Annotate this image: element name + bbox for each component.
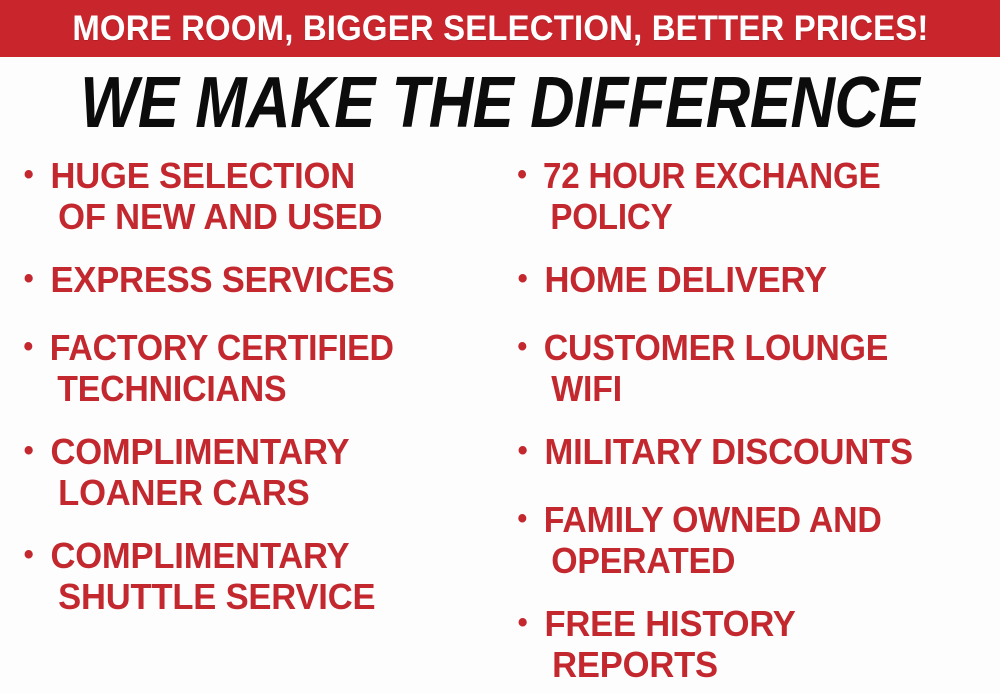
list-item-line-1: FACTORY CERTIFIED <box>14 327 471 368</box>
list-item-line-2: REPORTS <box>508 644 980 685</box>
list-item-line-1: FREE HISTORY <box>508 603 980 644</box>
list-item: EXPRESS SERVICES <box>14 259 500 300</box>
benefits-column-left: HUGE SELECTION OF NEW AND USED EXPRESS S… <box>14 155 500 690</box>
promo-poster: MORE ROOM, BIGGER SELECTION, BETTER PRIC… <box>0 0 1000 694</box>
list-item-line-1: HOME DELIVERY <box>508 259 980 300</box>
list-item-line-2: POLICY <box>508 196 961 237</box>
list-item: MILITARY DISCOUNTS <box>508 431 1000 472</box>
headline-container: WE MAKE THE DIFFERENCE <box>0 66 1000 138</box>
list-item-line-1: MILITARY DISCOUNTS <box>508 431 980 472</box>
list-item: FACTORY CERTIFIED TECHNICIANS <box>14 327 500 409</box>
headline-banner: MORE ROOM, BIGGER SELECTION, BETTER PRIC… <box>0 0 1000 57</box>
list-item-line-1: FAMILY OWNED AND <box>508 499 970 540</box>
list-item-line-2: SHUTTLE SERVICE <box>14 576 481 617</box>
list-item-line-2: WIFI <box>508 368 970 409</box>
list-item-line-1: 72 HOUR EXCHANGE <box>508 155 961 196</box>
list-item: HUGE SELECTION OF NEW AND USED <box>14 155 500 237</box>
list-item-line-1: COMPLIMENTARY <box>14 431 481 472</box>
list-item: FAMILY OWNED AND OPERATED <box>508 499 1000 581</box>
list-item-line-2: OF NEW AND USED <box>14 196 481 237</box>
list-item: FREE HISTORY REPORTS <box>508 603 1000 685</box>
page-title: WE MAKE THE DIFFERENCE <box>80 66 919 139</box>
benefits-columns: HUGE SELECTION OF NEW AND USED EXPRESS S… <box>0 155 1000 690</box>
list-item-line-2: TECHNICIANS <box>14 368 471 409</box>
list-item-line-1: CUSTOMER LOUNGE <box>508 327 970 368</box>
benefits-column-right: 72 HOUR EXCHANGE POLICY HOME DELIVERY CU… <box>508 155 1000 690</box>
list-item-line-1: EXPRESS SERVICES <box>14 259 481 300</box>
list-item-line-2: OPERATED <box>508 540 970 581</box>
list-item: COMPLIMENTARY SHUTTLE SERVICE <box>14 535 500 617</box>
list-item: CUSTOMER LOUNGE WIFI <box>508 327 1000 409</box>
list-item-line-2: LOANER CARS <box>14 472 481 513</box>
list-item: HOME DELIVERY <box>508 259 1000 300</box>
list-item-line-1: HUGE SELECTION <box>14 155 481 196</box>
list-item: COMPLIMENTARY LOANER CARS <box>14 431 500 513</box>
list-item-line-1: COMPLIMENTARY <box>14 535 481 576</box>
list-item: 72 HOUR EXCHANGE POLICY <box>508 155 1000 237</box>
banner-text: MORE ROOM, BIGGER SELECTION, BETTER PRIC… <box>72 11 928 47</box>
